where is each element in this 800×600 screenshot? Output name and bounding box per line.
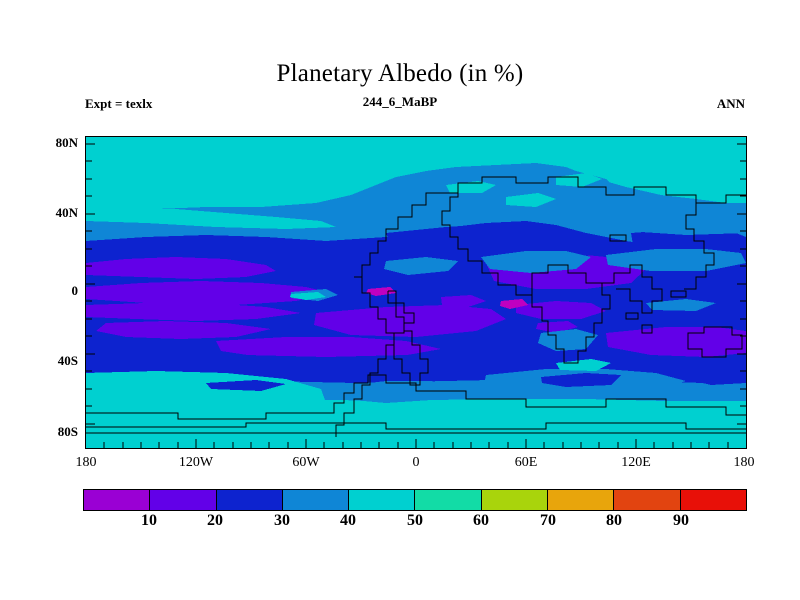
colorbar-swatch-7 — [548, 490, 614, 510]
colorbar-tick-30: 30 — [274, 512, 290, 530]
colorbar-tick-20: 20 — [207, 512, 223, 530]
colorbar-tick-90: 90 — [673, 512, 689, 530]
map-plot-area — [85, 136, 747, 449]
season-label: ANN — [717, 96, 745, 112]
colorbar-tick-70: 70 — [540, 512, 556, 530]
x-tick-0: 0 — [413, 455, 420, 471]
y-tick-80n: 80N — [56, 135, 78, 151]
colorbar-swatch-9 — [681, 490, 746, 510]
x-tick-180w: 180 — [76, 455, 97, 471]
x-tick-120e: 120E — [621, 455, 651, 471]
colorbar-tick-60: 60 — [473, 512, 489, 530]
colorbar-swatch-0 — [84, 490, 150, 510]
colorbar-tick-40: 40 — [340, 512, 356, 530]
x-tick-60w: 60W — [292, 455, 319, 471]
colorbar-swatch-3 — [283, 490, 349, 510]
colorbar-swatch-1 — [150, 490, 216, 510]
experiment-label: Expt = texlx — [85, 96, 152, 112]
colorbar-tick-80: 80 — [606, 512, 622, 530]
x-tick-60e: 60E — [515, 455, 538, 471]
colorbar-swatches — [83, 489, 747, 511]
x-tick-120w: 120W — [179, 455, 213, 471]
y-tick-0: 0 — [72, 283, 79, 299]
colorbar-swatch-4 — [349, 490, 415, 510]
albedo-figure: Planetary Albedo (in %) 244_6_MaBP Expt … — [0, 0, 800, 600]
colorbar — [83, 489, 747, 511]
colorbar-tick-10: 10 — [141, 512, 157, 530]
y-tick-40s: 40S — [58, 353, 78, 369]
x-tick-180e: 180 — [734, 455, 755, 471]
page-title: Planetary Albedo (in %) — [0, 60, 800, 88]
y-tick-40n: 40N — [56, 205, 78, 221]
colorbar-swatch-2 — [217, 490, 283, 510]
colorbar-swatch-8 — [614, 490, 680, 510]
colorbar-swatch-6 — [482, 490, 548, 510]
y-tick-80s: 80S — [58, 424, 78, 440]
colorbar-tick-50: 50 — [407, 512, 423, 530]
colorbar-swatch-5 — [415, 490, 481, 510]
